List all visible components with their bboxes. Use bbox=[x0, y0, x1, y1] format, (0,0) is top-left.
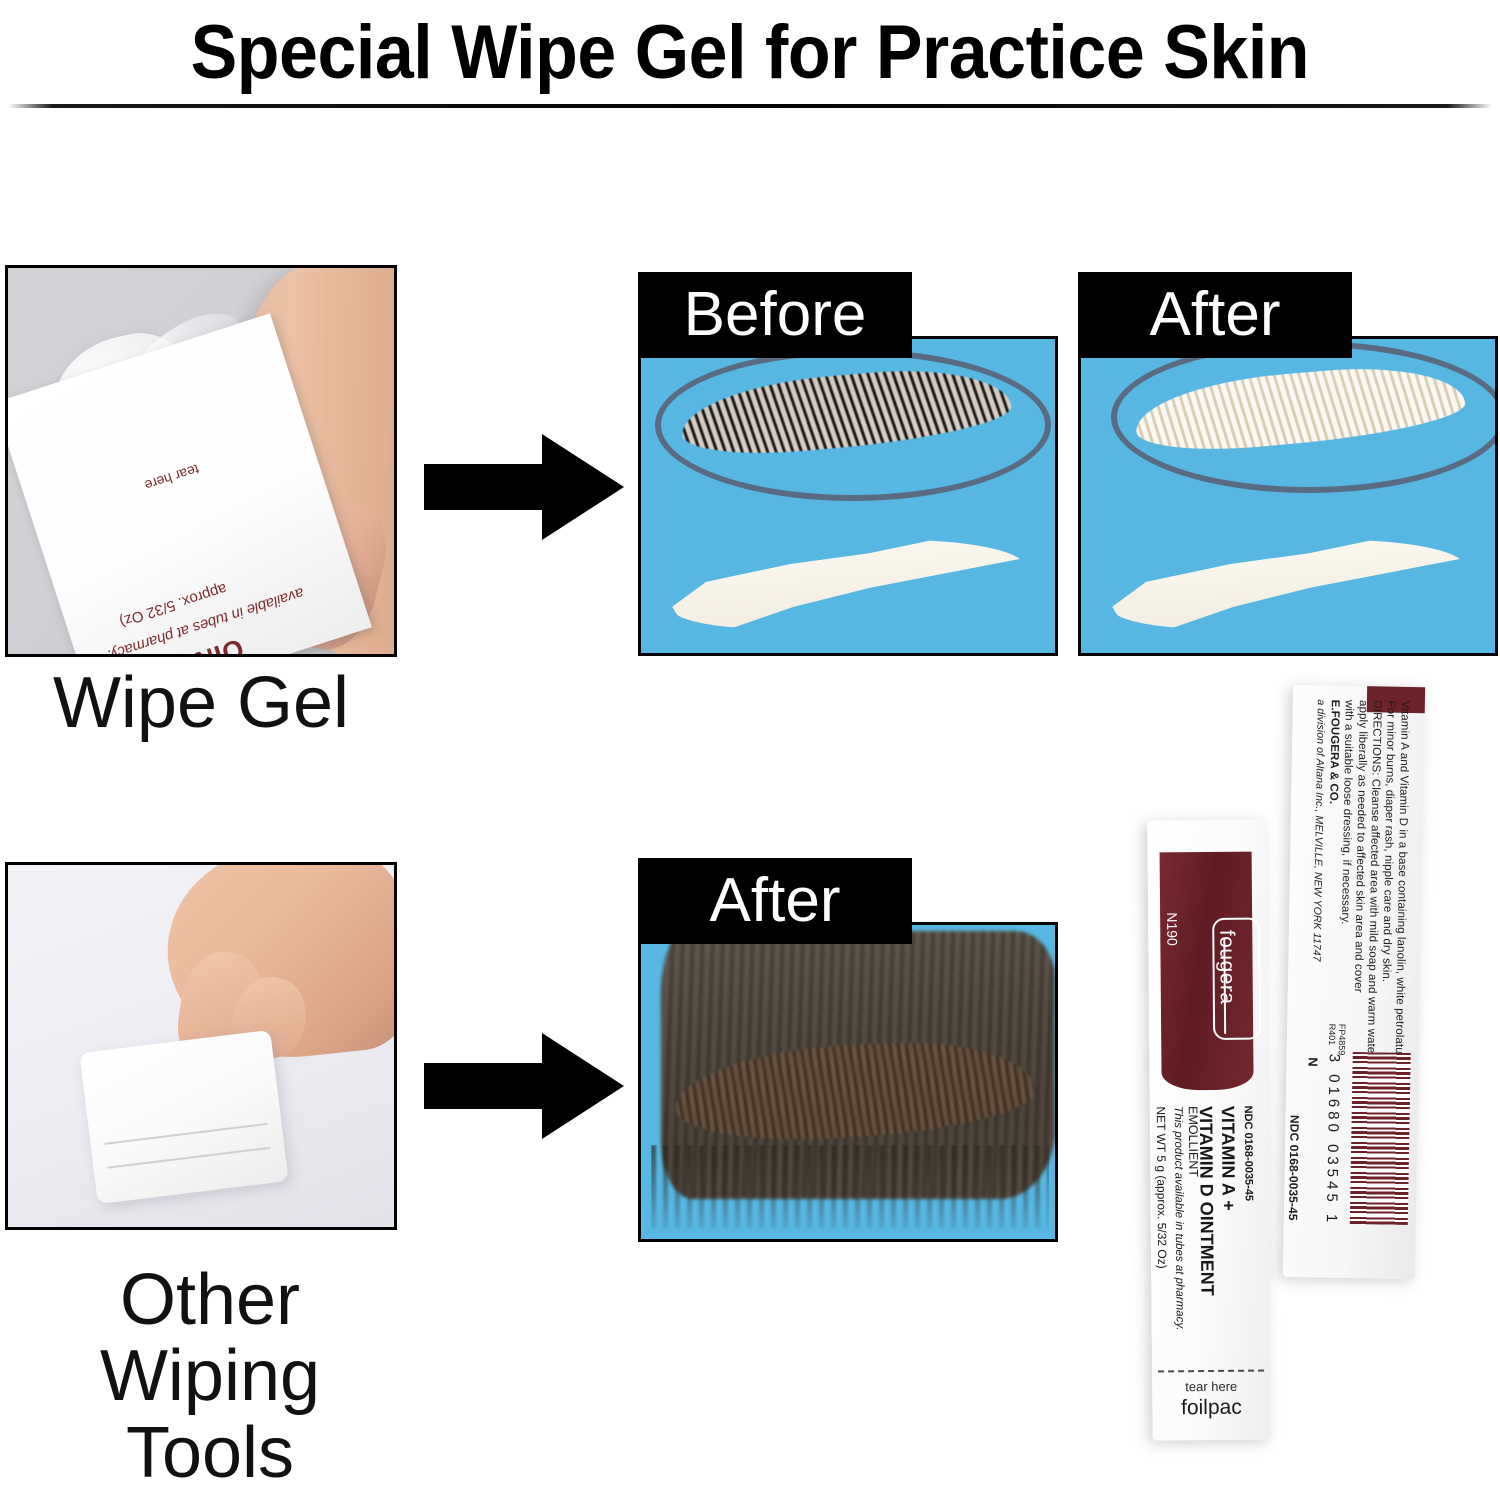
after-smeared-photo bbox=[638, 922, 1058, 1242]
smear-drips bbox=[651, 1145, 1049, 1229]
barcode bbox=[1350, 1052, 1411, 1225]
back-division-text: a division of Altana Inc., MELVILLE, NEW… bbox=[1310, 699, 1327, 961]
back-code-1: FP4859 bbox=[1336, 1024, 1347, 1056]
title-divider bbox=[8, 104, 1492, 108]
caption-line-2: Tools bbox=[0, 1415, 420, 1491]
fougera-logo-text: fougera bbox=[1214, 930, 1239, 1005]
lot-line-2: 2023 bbox=[1147, 912, 1164, 946]
after-smeared-label: After bbox=[638, 858, 912, 944]
caption-line-1: Other Wiping bbox=[0, 1262, 420, 1415]
lot-line-1: N190 bbox=[1164, 912, 1181, 946]
right-arrow-icon bbox=[424, 428, 624, 546]
other-wiping-tools-caption: Other Wiping Tools bbox=[0, 1262, 420, 1491]
back-barcode-prefix: N bbox=[1306, 1057, 1321, 1067]
before-photo bbox=[638, 336, 1058, 656]
after-photo bbox=[1078, 336, 1498, 656]
wipe-gel-photo: tear here approx. 5/32 Oz) available in … bbox=[5, 265, 397, 657]
before-label: Before bbox=[638, 272, 912, 358]
right-arrow-icon bbox=[424, 1027, 624, 1145]
back-manufacturer-text: E.FOUGERA & CO. bbox=[1327, 700, 1341, 805]
cotton-pad bbox=[79, 1030, 288, 1204]
fougera-logo-box: fougera bbox=[1212, 918, 1261, 1040]
front-product-name-line-1: VITAMIN A + bbox=[1217, 1106, 1239, 1211]
product-sachet-back: Vitamin A and Vitamin D in a base contai… bbox=[1283, 685, 1425, 1279]
page-header: Special Wipe Gel for Practice Skin bbox=[0, 0, 1500, 105]
sachet-maroon-band: fougera N190 2023 bbox=[1160, 852, 1254, 1091]
barcode-digits: 3 01680 03545 1 bbox=[1323, 1054, 1343, 1227]
back-code-2: R401 bbox=[1327, 1024, 1338, 1046]
back-directions-line-3: with a suitable loose dressing, if neces… bbox=[1339, 700, 1355, 925]
after-label: After bbox=[1078, 272, 1352, 358]
page-title: Special Wipe Gel for Practice Skin bbox=[191, 15, 1309, 91]
front-ndc-text: NDC 0168-0035-45 bbox=[1242, 1106, 1255, 1201]
front-net-weight-text: NET WT 5 g (approx. 5/32 Oz) bbox=[1154, 1106, 1169, 1268]
front-category-text: EMOLLIENT bbox=[1186, 1106, 1201, 1177]
front-availability-text: This product available in tubes at pharm… bbox=[1172, 1106, 1186, 1330]
cream-eyebrow-shape bbox=[1108, 529, 1469, 640]
wipe-gel-caption: Wipe Gel bbox=[5, 665, 397, 741]
other-wiping-tools-photo bbox=[5, 862, 397, 1230]
tear-line bbox=[1158, 1370, 1264, 1373]
product-sachet-front: fougera N190 2023 NDC 0168-0035-45 VITAM… bbox=[1147, 819, 1270, 1440]
foilpac-text: foilpac bbox=[1152, 1395, 1270, 1420]
back-ndc-text: NDC 0168-0035-45 bbox=[1286, 1115, 1302, 1221]
sachet-tear-here-text: tear here bbox=[143, 461, 201, 494]
lot-number-text: N190 2023 bbox=[1147, 912, 1180, 946]
cream-eyebrow-shape bbox=[668, 529, 1029, 640]
tear-here-text: tear here bbox=[1152, 1378, 1270, 1394]
